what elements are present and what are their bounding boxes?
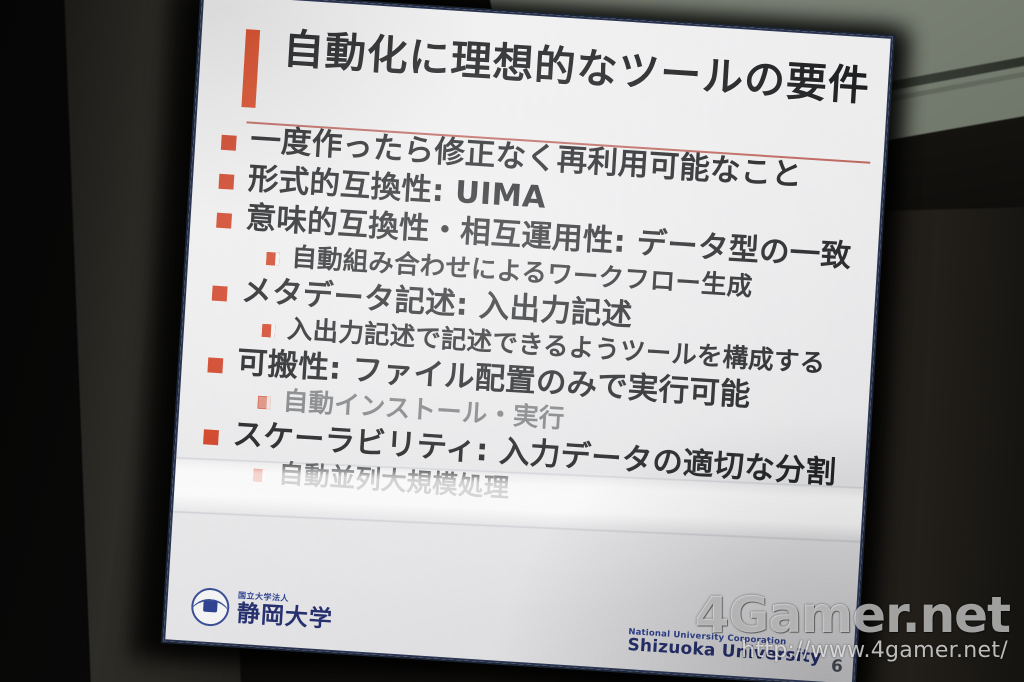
university-english-name: National University Corporation Shizuoka… xyxy=(627,628,822,667)
bullet-square-icon xyxy=(212,285,228,301)
logo-university-name: 静岡大学 xyxy=(236,603,333,632)
presentation-slide: 自動化に理想的なツールの要件 一度作ったら修正なく再利用可能なこと 形式的互換性… xyxy=(163,0,893,682)
bullet-square-icon xyxy=(218,174,234,190)
bullet-list: 一度作ったら修正なく再利用可能なこと 形式的互換性: UIMA 意味的互換性・相… xyxy=(201,120,872,529)
shizuoka-university-logo: 国立大学法人 静岡大学 xyxy=(190,587,334,634)
title-accent-bar xyxy=(241,29,260,108)
logo-text-block: 国立大学法人 静岡大学 xyxy=(236,592,334,632)
sub-bullet-square-icon xyxy=(262,324,276,338)
slide-title-block: 自動化に理想的なツールの要件 xyxy=(244,25,851,107)
university-emblem-icon xyxy=(190,587,230,627)
bullet-square-icon xyxy=(216,213,232,229)
sub-bullet-square-icon xyxy=(266,252,280,266)
screenshot-root: 自動化に理想的なツールの要件 一度作ったら修正なく再利用可能なこと 形式的互換性… xyxy=(0,0,1024,682)
bullet-square-icon xyxy=(203,430,219,446)
projection-screen: 自動化に理想的なツールの要件 一度作ったら修正なく再利用可能なこと 形式的互換性… xyxy=(163,0,893,682)
slide-title: 自動化に理想的なツールの要件 xyxy=(282,28,851,108)
sub-bullet-square-icon xyxy=(253,468,267,482)
bullet-square-icon xyxy=(207,357,223,373)
sub-bullet-square-icon xyxy=(257,396,271,410)
bullet-square-icon xyxy=(221,135,237,151)
page-number: 6 xyxy=(830,656,843,677)
